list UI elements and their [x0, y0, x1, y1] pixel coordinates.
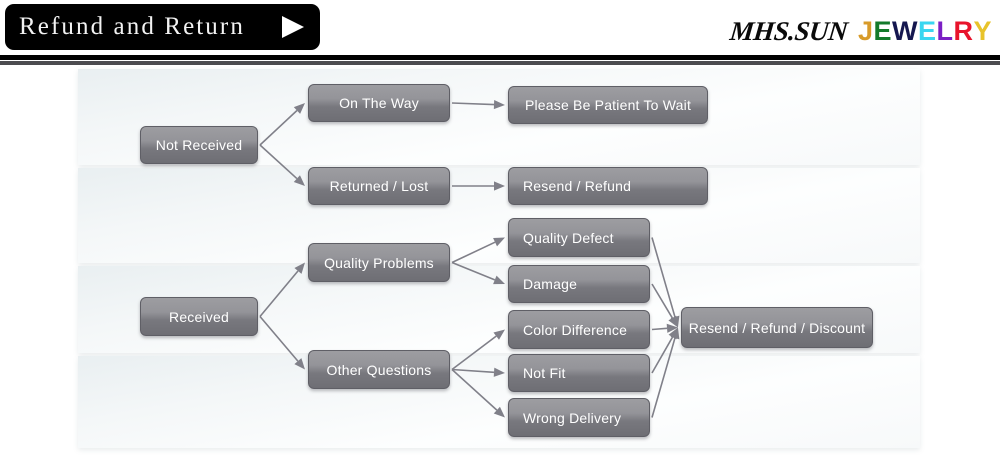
flow-node-resend-refund: Resend / Refund	[508, 167, 708, 205]
brand-letter: L	[936, 16, 953, 47]
flow-node-label: Received	[169, 309, 229, 325]
header-divider-black	[0, 55, 1000, 60]
page-title: Refund and Return	[19, 13, 276, 41]
flow-node-label: Returned / Lost	[330, 178, 429, 194]
brand-mark-text: MHS.SUN	[728, 16, 849, 47]
flow-node-label: Wrong Delivery	[523, 410, 621, 426]
background-band	[78, 168, 920, 263]
flow-node-other-questions: Other Questions	[308, 350, 450, 389]
flow-node-label: Not Fit	[523, 365, 566, 381]
flow-node-label: Color Difference	[523, 322, 627, 338]
flow-node-label: Damage	[523, 276, 577, 292]
flow-node-please-be-patient: Please Be Patient To Wait	[508, 86, 708, 124]
brand-letter: E	[918, 16, 937, 47]
brand-letter: E	[873, 16, 892, 47]
flow-node-label: Quality Defect	[523, 230, 614, 246]
brand-letter: W	[892, 16, 918, 47]
flow-node-label: Resend / Refund / Discount	[689, 320, 865, 336]
flowchart-stage: Not ReceivedOn The WayPlease Be Patient …	[0, 65, 1000, 471]
flow-node-received: Received	[140, 297, 258, 336]
flow-node-label: Not Received	[156, 137, 242, 153]
flow-node-quality-problems: Quality Problems	[308, 243, 450, 282]
flow-node-label: Other Questions	[327, 362, 432, 378]
brand-letter: R	[953, 16, 973, 47]
flow-node-color-difference: Color Difference	[508, 310, 650, 349]
flow-node-label: Please Be Patient To Wait	[525, 97, 691, 113]
brand-letter: Y	[973, 16, 992, 47]
refund-and-return-infographic: Refund and Return MHS.SUN JEWELRY Not Re…	[0, 0, 1000, 471]
flow-node-not-fit: Not Fit	[508, 354, 650, 392]
flow-node-label: Resend / Refund	[523, 178, 631, 194]
triangle-right-icon	[282, 16, 304, 38]
flow-node-wrong-delivery: Wrong Delivery	[508, 398, 650, 437]
brand-letter: J	[858, 16, 874, 47]
flow-node-on-the-way: On The Way	[308, 84, 450, 122]
page-title-plate: Refund and Return	[5, 4, 320, 50]
flow-node-damage: Damage	[508, 265, 650, 303]
flow-node-label: On The Way	[339, 95, 419, 111]
flow-node-not-received: Not Received	[140, 126, 258, 164]
background-band	[78, 356, 920, 448]
flow-node-resend-refund-discount: Resend / Refund / Discount	[681, 307, 873, 348]
flow-node-returned-lost: Returned / Lost	[308, 167, 450, 205]
flow-node-quality-defect: Quality Defect	[508, 218, 650, 257]
brand-logo: MHS.SUN JEWELRY	[730, 16, 992, 47]
header-bar: Refund and Return MHS.SUN JEWELRY	[0, 0, 1000, 55]
brand-word-text: JEWELRY	[858, 16, 992, 47]
flow-node-label: Quality Problems	[324, 255, 434, 271]
